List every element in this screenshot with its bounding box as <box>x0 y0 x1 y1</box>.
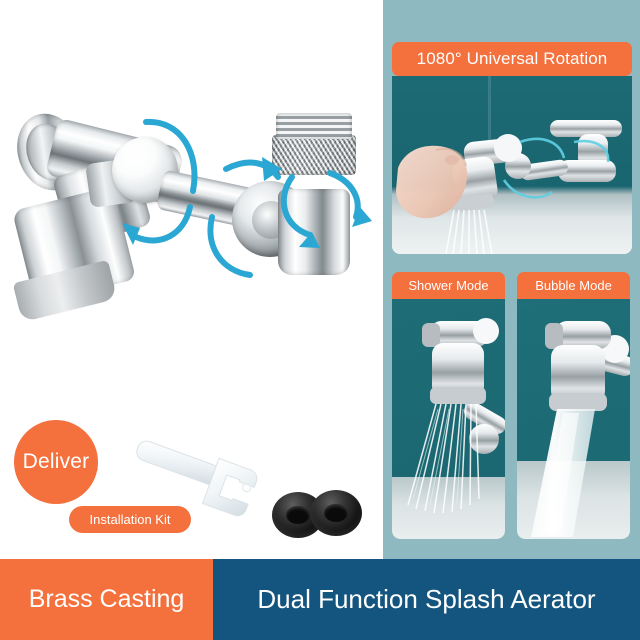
bubble-mode-photo <box>517 299 630 539</box>
hero-product-photo <box>0 95 383 330</box>
hand-demo-illustration <box>392 76 632 254</box>
bubble-mode-illustration <box>517 299 630 539</box>
deliver-badge-label: Deliver <box>23 450 90 474</box>
product-name-caption: Dual Function Splash Aerator <box>213 559 640 640</box>
inlet-body <box>278 189 350 275</box>
knurled-coupling-nut <box>272 135 356 175</box>
deliver-badge: Deliver <box>14 420 98 504</box>
brass-casting-caption: Brass Casting <box>0 559 213 640</box>
product-marketing-image: Deliver Installation Kit 1080° Universal… <box>0 0 640 640</box>
shower-mode-text: Shower Mode <box>408 278 488 293</box>
installation-kit-label: Installation Kit <box>69 506 191 533</box>
shower-mode-photo <box>392 299 505 539</box>
rotation-banner-label: 1080° Universal Rotation <box>417 49 608 69</box>
shower-mode-label: Shower Mode <box>392 272 505 299</box>
brass-casting-text: Brass Casting <box>29 585 185 614</box>
rotation-banner: 1080° Universal Rotation <box>392 42 632 76</box>
threaded-inlet <box>276 113 352 139</box>
bubble-mode-text: Bubble Mode <box>535 278 612 293</box>
rubber-washer-2 <box>310 490 362 536</box>
hand-demo-photo <box>392 76 632 254</box>
installation-kit-text: Installation Kit <box>90 512 171 527</box>
shower-mode-illustration <box>392 299 505 539</box>
product-name-text: Dual Function Splash Aerator <box>257 584 595 615</box>
bottom-caption-bar: Brass Casting Dual Function Splash Aerat… <box>0 559 640 640</box>
bubble-mode-label: Bubble Mode <box>517 272 630 299</box>
